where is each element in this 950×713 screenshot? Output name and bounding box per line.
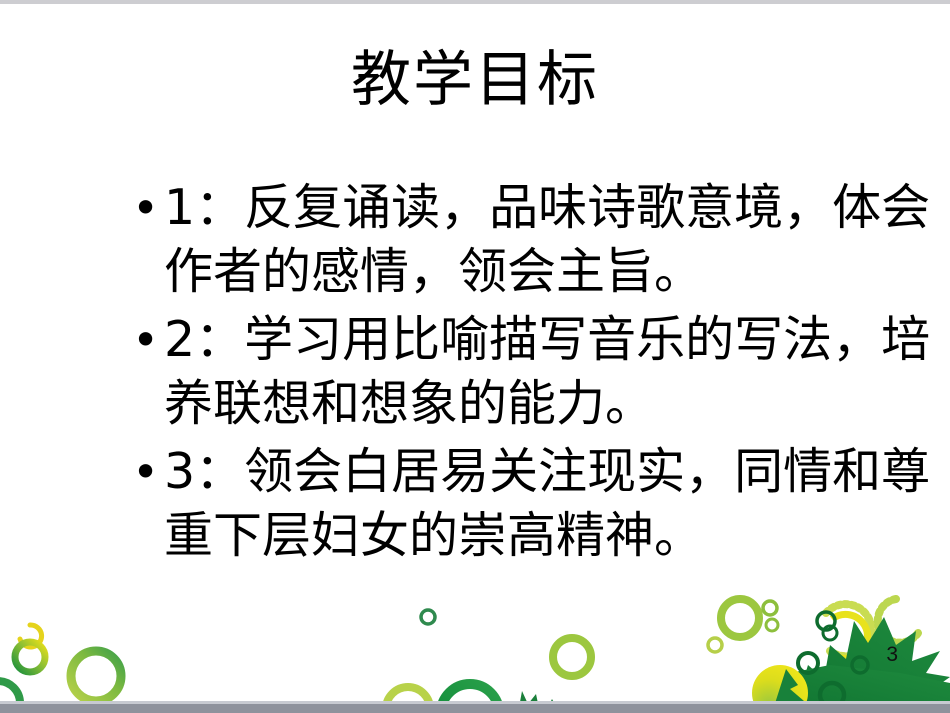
page-title: 教学目标 [0,44,950,116]
list-item-text: 3：领会白居易关注现实，同情和尊重下层妇女的崇高精神。 [164,440,936,568]
crescent-arc-icon [20,625,42,647]
decorative-ring [798,653,818,673]
bullet-dot-icon: • [128,176,164,240]
page-number: 3 [886,644,898,665]
decorative-ring [708,638,722,652]
bottom-divider [0,704,950,713]
top-divider [0,0,950,4]
decorative-ring [763,601,777,615]
list-item-text: 2：学习用比喻描写音乐的写法，培养联想和想象的能力。 [164,308,936,436]
maple-leaf-icon [782,617,950,713]
decorative-ring [823,626,837,640]
decorative-ring [721,599,759,637]
dotted-ring-icon [878,599,918,643]
decorative-ring [852,657,868,673]
bullet-dot-icon: • [128,308,164,372]
decorative-ring [71,651,121,701]
slide-canvas: 教学目标 • 1：反复诵读，品味诗歌意境，体会作者的感情，领会主旨。 • 2：学… [0,0,950,713]
objectives-list: • 1：反复诵读，品味诗歌意境，体会作者的感情，领会主旨。 • 2：学习用比喻描… [128,176,936,572]
footer-decoration [0,573,950,713]
decorative-ring [766,619,778,631]
decorative-ring [817,612,835,630]
decorative-ring [553,638,591,676]
dotted-ring-icon [826,604,872,656]
decorative-ring [421,610,435,624]
list-item: • 3：领会白居易关注现实，同情和尊重下层妇女的崇高精神。 [128,440,936,568]
list-item-text: 1：反复诵读，品味诗歌意境，体会作者的感情，领会主旨。 [164,176,936,304]
list-item: • 1：反复诵读，品味诗歌意境，体会作者的感情，领会主旨。 [128,176,936,304]
decorative-ring [15,642,45,672]
list-item: • 2：学习用比喻描写音乐的写法，培养联想和想象的能力。 [128,308,936,436]
decorative-arc [830,614,867,658]
bullet-dot-icon: • [128,440,164,504]
